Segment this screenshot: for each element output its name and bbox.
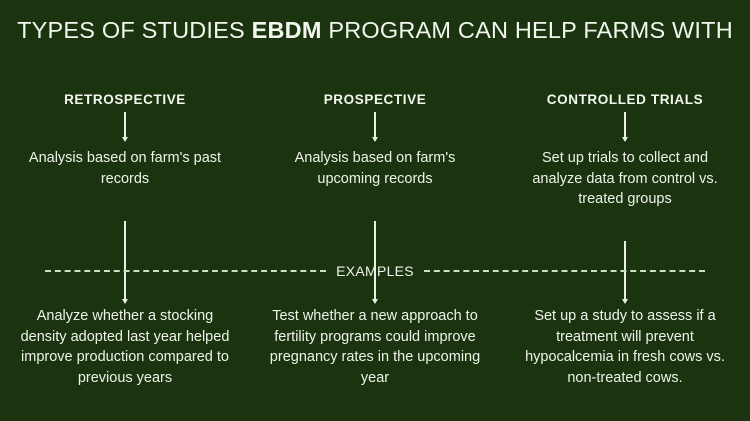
column-definition-block: Analysis based on farm's upcoming record… [250, 148, 500, 189]
page-title-emphasis: EBDM [252, 17, 322, 43]
column-heading: CONTROLLED TRIALS [500, 92, 750, 107]
column-heading: RETROSPECTIVE [0, 92, 250, 107]
arrow-down-icon [374, 112, 376, 138]
column-definition-block: Set up trials to collect and analyze dat… [500, 148, 750, 210]
column-example-block: Set up a study to assess if a treatment … [500, 306, 750, 388]
arrow-down-icon [124, 112, 126, 138]
divider-dash-left [45, 270, 326, 272]
columns-container: RETROSPECTIVE Analysis based on farm's p… [0, 88, 750, 421]
column-example-text: Test whether a new approach to fertility… [268, 306, 483, 388]
page-title-part1: TYPES OF STUDIES [17, 17, 252, 43]
page-title: TYPES OF STUDIES EBDM PROGRAM CAN HELP F… [0, 16, 750, 44]
arrow-down-icon [624, 112, 626, 138]
column-example-block: Test whether a new approach to fertility… [250, 306, 500, 388]
column-definition-block: Analysis based on farm's past records [0, 148, 250, 189]
column-example-text: Analyze whether a stocking density adopt… [18, 306, 233, 388]
column-retrospective: RETROSPECTIVE Analysis based on farm's p… [0, 88, 250, 421]
examples-label: EXAMPLES [326, 263, 424, 279]
column-prospective: PROSPECTIVE Analysis based on farm's upc… [250, 88, 500, 421]
column-definition-text: Analysis based on farm's past records [18, 148, 233, 189]
examples-divider: EXAMPLES [45, 262, 705, 280]
column-example-text: Set up a study to assess if a treatment … [518, 306, 733, 388]
slide-canvas: TYPES OF STUDIES EBDM PROGRAM CAN HELP F… [0, 0, 750, 421]
page-title-part2: PROGRAM CAN HELP FARMS WITH [322, 17, 733, 43]
divider-dash-right [424, 270, 705, 272]
column-example-block: Analyze whether a stocking density adopt… [0, 306, 250, 388]
column-heading: PROSPECTIVE [250, 92, 500, 107]
column-controlled-trials: CONTROLLED TRIALS Set up trials to colle… [500, 88, 750, 421]
column-definition-text: Set up trials to collect and analyze dat… [518, 148, 733, 210]
column-definition-text: Analysis based on farm's upcoming record… [268, 148, 483, 189]
